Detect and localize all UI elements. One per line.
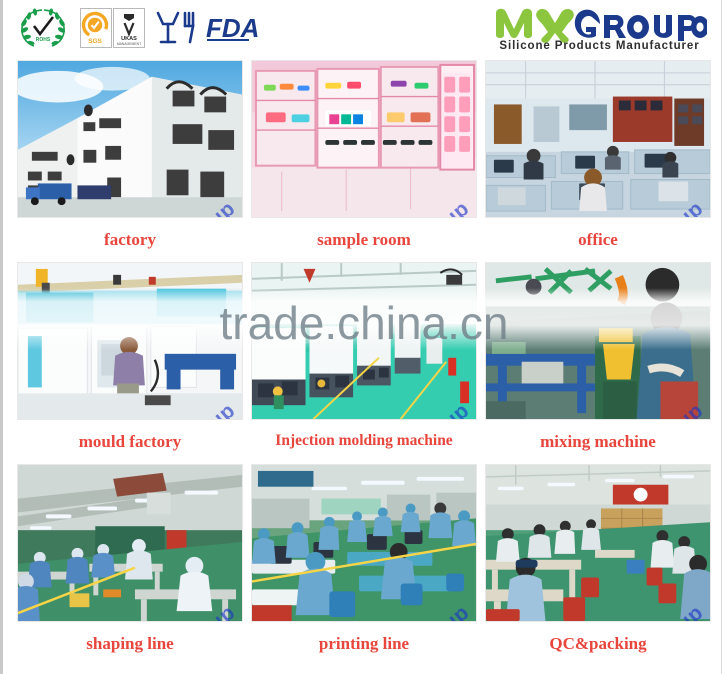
company-profile-gallery-page: ROHS SGS UKAS MANAGEMENT <box>0 0 722 674</box>
shaping-line-photo <box>18 465 242 621</box>
caption-mould-factory: mould factory <box>79 433 181 450</box>
gallery-item-printing-line[interactable]: MX Group printing line <box>251 464 477 666</box>
factory-building-photo <box>18 61 242 217</box>
caption-printing-line: printing line <box>319 635 409 652</box>
mx-logo-green-letters <box>496 8 574 42</box>
mixing-machine-photo <box>486 263 710 419</box>
fda-certification-logo: FDA <box>205 11 267 45</box>
gallery-item-shaping-line[interactable]: MX Group shaping line <box>17 464 243 666</box>
svg-text:SGS: SGS <box>88 38 102 45</box>
svg-text:ROHS: ROHS <box>36 37 51 43</box>
sample-showroom-photo <box>252 61 476 217</box>
gallery-item-sample-room[interactable]: MX Group sample room <box>251 60 477 262</box>
sgs-certification-logo: SGS UKAS MANAGEMENT <box>80 8 145 48</box>
photo-shaping-line[interactable]: MX Group <box>17 464 243 622</box>
gallery-item-injection-molding-machine[interactable]: MX Group Injection molding machine <box>251 262 477 464</box>
facility-photo-grid: MX Group factory <box>3 56 721 674</box>
gallery-item-qc-packing[interactable]: MX Group QC&packing <box>485 464 711 666</box>
gallery-item-mixing-machine[interactable]: MX Group mixing machine <box>485 262 711 464</box>
gallery-item-mould-factory[interactable]: MX Group mould factory <box>17 262 243 464</box>
caption-office: office <box>578 231 618 248</box>
rohs-certification-logo: ROHS <box>15 5 71 51</box>
office-interior-photo <box>486 61 710 217</box>
photo-mixing-machine[interactable]: MX Group <box>485 262 711 420</box>
company-tagline: Silicone Products Manufacturer <box>499 40 699 52</box>
mould-workshop-photo <box>18 263 242 419</box>
ukas-certification-logo: UKAS MANAGEMENT <box>114 9 145 48</box>
photo-factory[interactable]: MX Group <box>17 60 243 218</box>
caption-qc-packing: QC&packing <box>549 635 646 652</box>
mx-group-logo-mark <box>492 5 707 43</box>
company-logo: Silicone Products Manufacturer <box>492 5 707 52</box>
hanging-samples-rack <box>442 73 472 168</box>
gallery-item-office[interactable]: MX Group office <box>485 60 711 262</box>
svg-text:MANAGEMENT: MANAGEMENT <box>117 42 141 46</box>
svg-text:FDA: FDA <box>206 13 259 43</box>
certification-logo-strip: ROHS SGS UKAS MANAGEMENT <box>15 5 267 51</box>
caption-factory: factory <box>104 231 156 248</box>
header-bar: ROHS SGS UKAS MANAGEMENT <box>3 0 721 56</box>
photo-printing-line[interactable]: MX Group <box>251 464 477 622</box>
photo-sample-room[interactable]: MX Group <box>251 60 477 218</box>
caption-sample-room: sample room <box>317 231 411 248</box>
qc-packing-photo <box>486 465 710 621</box>
food-grade-certification-logo <box>154 6 196 50</box>
gallery-item-factory[interactable]: MX Group factory <box>17 60 243 262</box>
photo-injection-molding-machine[interactable]: MX Group <box>251 262 477 420</box>
mixing-machine-body <box>595 328 641 419</box>
injection-molding-hall-photo <box>252 263 476 419</box>
caption-mixing-machine: mixing machine <box>540 433 656 450</box>
printing-line-photo <box>252 465 476 621</box>
caption-shaping-line: shaping line <box>86 635 173 652</box>
photo-office[interactable]: MX Group <box>485 60 711 218</box>
photo-qc-packing[interactable]: MX Group <box>485 464 711 622</box>
caption-injection-molding-machine: Injection molding machine <box>275 433 452 449</box>
photo-mould-factory[interactable]: MX Group <box>17 262 243 420</box>
